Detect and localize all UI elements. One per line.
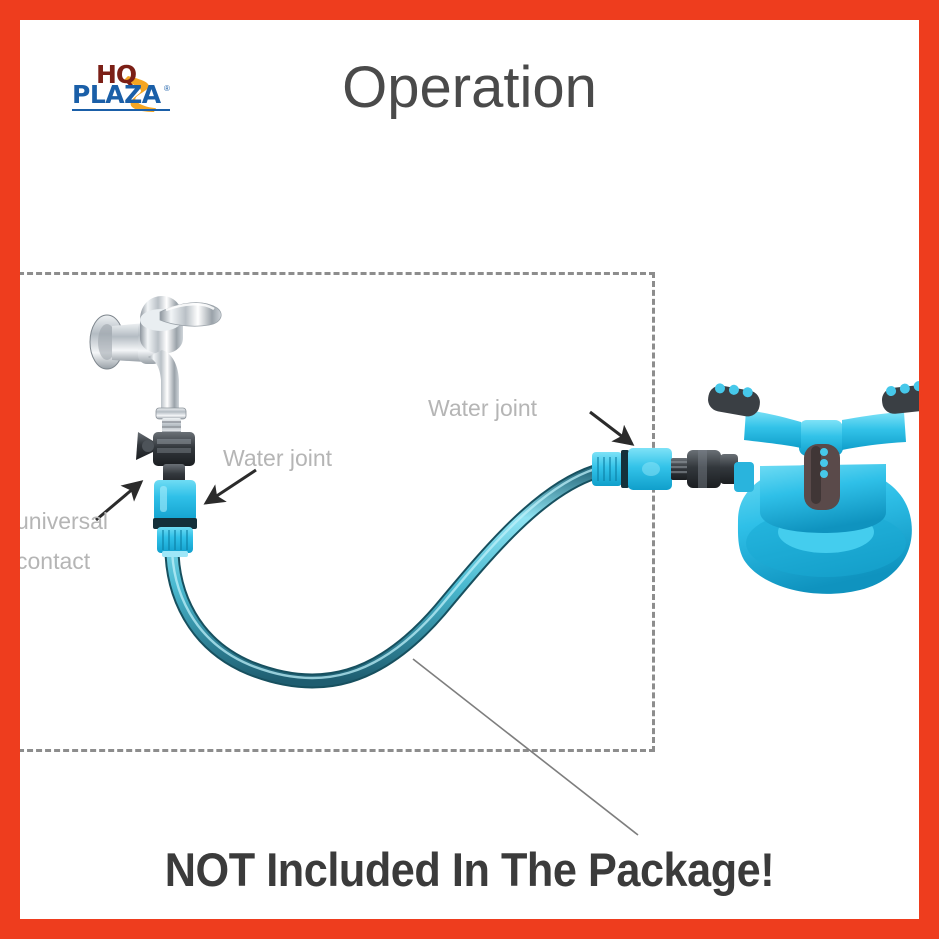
label-universal-contact-line1: universal <box>20 508 108 535</box>
not-included-caption: NOT Included In The Package! <box>56 842 883 897</box>
image-canvas: HQ PLAZA ® Operation <box>20 20 919 919</box>
hose-adapter <box>671 450 738 488</box>
operation-diagram <box>20 20 919 919</box>
water-joint-right <box>592 448 672 490</box>
universal-tap-connector <box>136 432 195 486</box>
label-universal-contact-line2: contact <box>20 548 90 575</box>
water-joint-left <box>153 480 197 557</box>
arrow-water-joint-left <box>206 470 256 503</box>
rotating-sprinkler <box>706 379 919 594</box>
label-water-joint-right: Water joint <box>428 395 537 422</box>
caption-leader-line <box>413 659 638 835</box>
image-frame: HQ PLAZA ® Operation <box>0 0 939 939</box>
garden-hose <box>172 469 595 681</box>
label-water-joint-left: Water joint <box>223 445 332 472</box>
arrow-water-joint-right <box>590 412 632 444</box>
wall-faucet <box>90 296 221 440</box>
